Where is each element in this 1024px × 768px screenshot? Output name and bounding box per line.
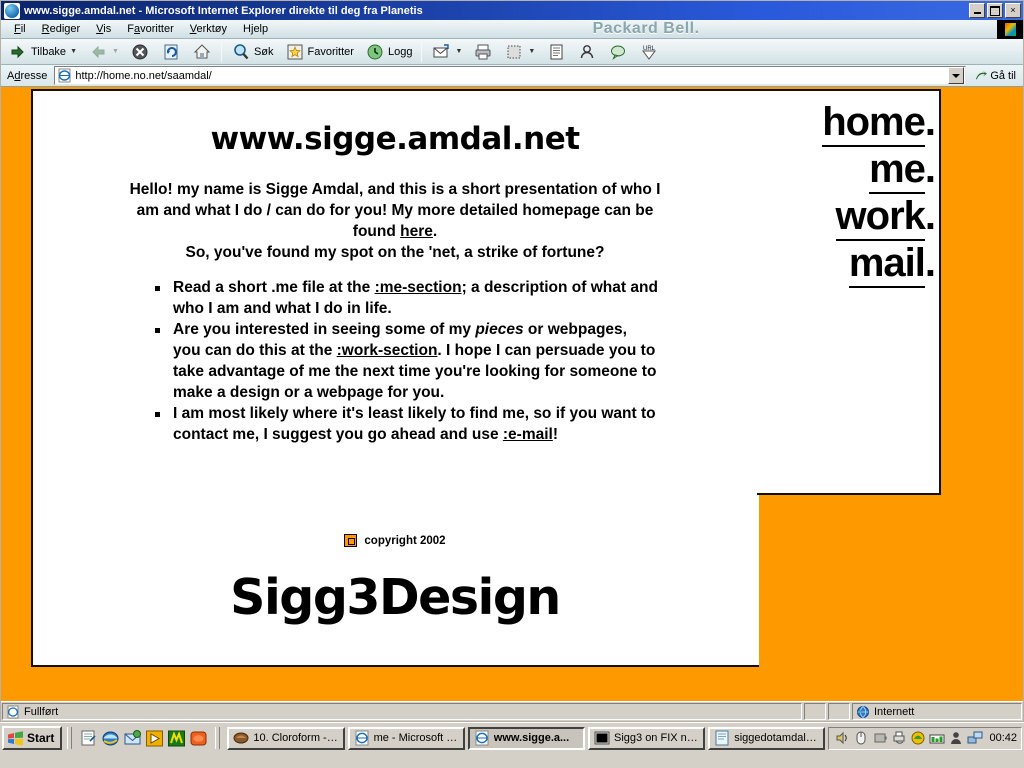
- security-zone-label: Internett: [874, 706, 914, 718]
- taskbar-grip[interactable]: [67, 727, 72, 749]
- security-zone-pane: Internett: [852, 703, 1022, 720]
- menu-item-rediger[interactable]: Rediger: [35, 21, 88, 37]
- task-label: www.sigge.a...: [494, 732, 569, 744]
- chevron-down-icon[interactable]: ▼: [455, 48, 462, 55]
- quick-launch-bar: [77, 729, 210, 748]
- window-title: www.sigge.amdal.net - Microsoft Internet…: [24, 5, 969, 17]
- nav-item-home[interactable]: home.: [761, 99, 939, 146]
- chevron-down-icon[interactable]: ▼: [70, 48, 77, 55]
- page-icon: [6, 705, 20, 719]
- maximize-button[interactable]: [987, 3, 1003, 18]
- edit-page-icon: [504, 42, 524, 62]
- bullet-1-pre: Read a short .me file at the: [173, 279, 375, 296]
- page-button[interactable]: [541, 41, 571, 63]
- forward-button[interactable]: ▼: [83, 41, 124, 63]
- nav-item-mail[interactable]: mail.: [761, 240, 939, 287]
- status-bar: Fullført Internett: [1, 701, 1023, 721]
- task-label: Sigg3 on FIX nod...: [614, 732, 699, 744]
- nav-label-mail: mail: [849, 241, 925, 288]
- clock[interactable]: 00:42: [986, 732, 1017, 744]
- norton-icon[interactable]: [910, 730, 926, 746]
- printer-icon: [473, 42, 493, 62]
- volume-icon[interactable]: [834, 730, 850, 746]
- person-icon: [577, 42, 597, 62]
- page-intro: Hello! my name is Sigge Amdal, and this …: [121, 179, 669, 263]
- back-button[interactable]: Tilbake ▼: [3, 41, 82, 63]
- nav-label-me: me: [869, 147, 925, 194]
- window-controls: ×: [969, 3, 1021, 18]
- task-button[interactable]: 10. Cloroform - go...: [227, 727, 344, 750]
- task-button[interactable]: siggedotamdal.ht...: [708, 727, 825, 750]
- address-value[interactable]: http://home.no.net/saamdal/: [75, 70, 945, 82]
- ie-logo-animation: [997, 20, 1023, 39]
- winamp-icon: [233, 730, 249, 746]
- status-pane-3: [828, 703, 850, 720]
- print-button[interactable]: [468, 41, 498, 63]
- mail-icon: [431, 42, 451, 62]
- stop-icon: [130, 42, 150, 62]
- task-buttons: 10. Cloroform - go... me - Microsoft Int…: [225, 727, 825, 750]
- globe-icon: [856, 705, 870, 719]
- nav-item-work[interactable]: work.: [761, 193, 939, 240]
- winamp-icon[interactable]: [167, 729, 186, 748]
- messenger-button[interactable]: [603, 41, 633, 63]
- start-label: Start: [27, 731, 54, 745]
- work-section-link[interactable]: :work-section: [337, 342, 438, 359]
- page-icon: [57, 68, 72, 83]
- packard-bell-branding: Packard Bell.: [275, 20, 997, 38]
- url-badge-button[interactable]: URL: [634, 41, 664, 63]
- browser-toolbar: Tilbake ▼ ▼: [1, 39, 1023, 65]
- chevron-down-icon[interactable]: ▼: [528, 48, 535, 55]
- address-bar: Adresse http://home.no.net/saamdal/ Gå t…: [1, 65, 1023, 87]
- edit-button[interactable]: ▼: [499, 41, 540, 63]
- taskbar-grip[interactable]: [215, 727, 220, 749]
- list-item: Are you interested in seeing some of my …: [173, 319, 658, 403]
- status-message: Fullført: [24, 706, 58, 718]
- forward-arrow-icon: [88, 42, 108, 62]
- search-icon: [231, 42, 251, 62]
- mail-button[interactable]: ▼: [426, 41, 467, 63]
- page-viewport: www.sigge.amdal.net Hello! my name is Si…: [1, 87, 1023, 701]
- network-icon[interactable]: [967, 730, 983, 746]
- refresh-button[interactable]: [156, 41, 186, 63]
- back-arrow-icon: [8, 42, 28, 62]
- search-button[interactable]: Søk: [226, 41, 279, 63]
- nav-label-home: home: [822, 100, 925, 147]
- menu-item-hjelp[interactable]: Hjelp: [236, 21, 275, 37]
- home-button[interactable]: [187, 41, 217, 63]
- list-item: I am most likely where it's least likely…: [173, 403, 658, 445]
- nav-dot: .: [925, 241, 935, 285]
- me-section-link[interactable]: :me-section: [375, 279, 462, 296]
- stop-button[interactable]: [125, 41, 155, 63]
- menu-item-vis[interactable]: Vis: [89, 21, 118, 37]
- speech-bubble-icon: [608, 42, 628, 62]
- site-logo: Sigg3Design: [31, 569, 759, 626]
- outlook-express-icon[interactable]: [123, 729, 142, 748]
- task-label: siggedotamdal.ht...: [734, 732, 819, 744]
- address-label: Adresse: [3, 70, 51, 82]
- copyright-text: copyright 2002: [364, 535, 445, 547]
- toolbar-separator: [421, 42, 422, 62]
- favorites-button[interactable]: Favoritter: [280, 41, 359, 63]
- favorites-label: Favoritter: [308, 46, 354, 58]
- nav-dot: .: [925, 100, 935, 144]
- discuss-button[interactable]: [572, 41, 602, 63]
- search-label: Søk: [254, 46, 274, 58]
- history-button[interactable]: Logg: [360, 41, 417, 63]
- go-button[interactable]: Gå til: [969, 69, 1021, 83]
- back-label: Tilbake: [31, 46, 66, 58]
- page-title: www.sigge.amdal.net: [31, 121, 759, 157]
- browser-window: www.sigge.amdal.net - Microsoft Internet…: [0, 0, 1024, 722]
- history-icon: [365, 42, 385, 62]
- nav-label-work: work: [836, 194, 925, 241]
- go-arrow-icon: [974, 69, 988, 83]
- star-icon: [285, 42, 305, 62]
- minimize-button[interactable]: [969, 3, 985, 18]
- intro-text-b: .: [433, 223, 437, 240]
- bullet-2-emphasis: pieces: [475, 321, 523, 338]
- orange-app-icon[interactable]: [189, 729, 208, 748]
- task-button[interactable]: Sigg3 on FIX nod...: [588, 727, 705, 750]
- menu-item-favoritter[interactable]: Favoritter: [120, 21, 180, 37]
- terminal-icon: [594, 730, 610, 746]
- intro-line2: So, you've found my spot on the 'net, a …: [185, 244, 604, 261]
- email-link[interactable]: :e-mail: [503, 426, 553, 443]
- status-pane-2: [804, 703, 826, 720]
- go-label: Gå til: [990, 70, 1016, 82]
- site-navigation: home. me. work. mail.: [761, 99, 939, 287]
- system-tray: 00:42: [828, 727, 1022, 750]
- windows-flag-icon: [7, 731, 24, 746]
- close-button[interactable]: ×: [1005, 3, 1021, 18]
- bullet-3-pre: I am most likely where it's least likely…: [173, 405, 656, 443]
- internet-explorer-icon: [4, 3, 20, 19]
- menu-bar: Fil Rediger Vis Favoritter Verktøy Hjelp…: [1, 20, 1023, 39]
- task-label: 10. Cloroform - go...: [253, 732, 338, 744]
- resource-meter-icon[interactable]: [929, 730, 945, 746]
- address-input[interactable]: http://home.no.net/saamdal/: [54, 66, 966, 85]
- user-icon[interactable]: [948, 730, 964, 746]
- printer-icon[interactable]: [891, 730, 907, 746]
- bullet-3-post: !: [553, 426, 558, 443]
- media-player-icon[interactable]: [145, 729, 164, 748]
- home-icon: [192, 42, 212, 62]
- chevron-down-icon[interactable]: ▼: [112, 48, 119, 55]
- document-icon: [546, 42, 566, 62]
- start-button[interactable]: Start: [2, 726, 62, 750]
- here-link[interactable]: here: [400, 223, 433, 240]
- list-item: Read a short .me file at the :me-section…: [173, 277, 658, 319]
- task-label: me - Microsoft Int...: [374, 732, 459, 744]
- mouse-icon[interactable]: [853, 730, 869, 746]
- internet-explorer-icon[interactable]: [101, 729, 120, 748]
- page-bullet-list: Read a short .me file at the :me-section…: [153, 277, 658, 445]
- bullet-2-pre: Are you interested in seeing some of my: [173, 321, 475, 338]
- menu-items: Fil Rediger Vis Favoritter Verktøy Hjelp: [1, 20, 275, 38]
- show-desktop-icon[interactable]: [79, 729, 98, 748]
- ie-icon: [354, 730, 370, 746]
- title-bar: www.sigge.amdal.net - Microsoft Internet…: [1, 1, 1023, 20]
- notepad-icon: [714, 730, 730, 746]
- history-label: Logg: [388, 46, 412, 58]
- copyright-row: copyright 2002: [31, 534, 759, 547]
- address-dropdown-button[interactable]: [948, 67, 964, 84]
- url-shield-icon: URL: [639, 42, 659, 62]
- menu-item-verktoy[interactable]: Verktøy: [183, 21, 234, 37]
- refresh-icon: [161, 42, 181, 62]
- menu-item-fil[interactable]: Fil: [7, 21, 33, 37]
- nav-item-me[interactable]: me.: [761, 146, 939, 193]
- nav-dot: .: [925, 147, 935, 191]
- battery-icon[interactable]: [872, 730, 888, 746]
- task-button-active[interactable]: www.sigge.a...: [468, 727, 585, 750]
- taskbar: Start: [0, 722, 1024, 768]
- intro-text-a: Hello! my name is Sigge Amdal, and this …: [130, 181, 661, 240]
- ie-icon: [474, 730, 490, 746]
- task-button[interactable]: me - Microsoft Int...: [348, 727, 465, 750]
- copyright-badge-icon: [344, 534, 357, 547]
- status-message-pane: Fullført: [2, 703, 802, 720]
- nav-dot: .: [925, 194, 935, 238]
- toolbar-separator: [221, 42, 222, 62]
